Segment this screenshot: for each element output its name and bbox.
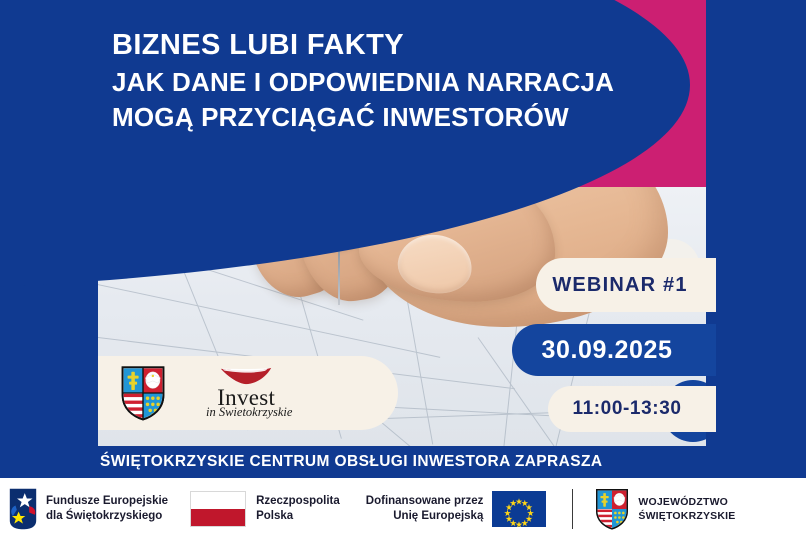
pushpin-needle: [338, 243, 340, 305]
badge-event-date: 30.09.2025: [512, 324, 716, 376]
badge-webinar-number: WEBINAR #1: [536, 258, 716, 312]
footer-eu: Dofinansowane przez Unię Europejską: [366, 491, 547, 527]
organizer-logo-pill: Invest in Swietokrzyskie: [98, 356, 398, 430]
eu-flag-icon: [492, 491, 546, 527]
footer-fundusze-europejskie: Fundusze Europejskie dla Świętokrzyskieg…: [0, 487, 168, 531]
footer-voivodeship: WOJEWÓDZTWO ŚWIĘTOKRZYSKIE: [595, 488, 735, 530]
eu-label: Dofinansowane przez Unię Europejską: [366, 494, 484, 524]
eu-funding-footer: Fundusze Europejskie dla Świętokrzyskieg…: [0, 478, 806, 540]
swietokrzyskie-coat-of-arms-icon: [120, 365, 166, 421]
eu-line-1: Dofinansowane przez: [366, 494, 484, 509]
organizer-strap-text: ŚWIĘTOKRZYSKIE CENTRUM OBSŁUGI INWESTORA…: [100, 453, 602, 471]
voivodeship-label: WOJEWÓDZTWO ŚWIĘTOKRZYSKIE: [638, 495, 735, 523]
invest-flag-swoosh-icon: [219, 367, 273, 385]
voivodeship-line-1: WOJEWÓDZTWO: [638, 495, 735, 509]
invest-subtitle: in Swietokrzyskie: [206, 406, 292, 419]
badge-event-time: 11:00-13:30: [548, 386, 716, 432]
poster-headline: BIZNES LUBI FAKTY JAK DANE I ODPOWIEDNIA…: [112, 28, 712, 133]
invest-logo: Invest in Swietokrzyskie: [206, 367, 286, 419]
fundusze-line-1: Fundusze Europejskie: [46, 494, 168, 509]
headline-line-3: MOGĄ PRZYCIĄGAĆ INWESTORÓW: [112, 102, 712, 133]
fundusze-line-2: dla Świętokrzyskiego: [46, 509, 168, 524]
poland-line-2: Polska: [256, 509, 340, 524]
poland-label: Rzeczpospolita Polska: [256, 494, 340, 524]
eu-line-2: Unię Europejską: [366, 509, 484, 524]
footer-poland: Rzeczpospolita Polska: [168, 491, 340, 527]
fundusze-label: Fundusze Europejskie dla Świętokrzyskieg…: [46, 494, 168, 524]
poland-flag-icon: [190, 491, 246, 527]
headline-line-1: BIZNES LUBI FAKTY: [112, 28, 712, 62]
footer-divider: [572, 489, 573, 529]
organizer-strap: ŚWIĘTOKRZYSKIE CENTRUM OBSŁUGI INWESTORA…: [0, 446, 806, 478]
fundusze-europejskie-logo-icon: [8, 487, 38, 531]
webinar-poster: BIZNES LUBI FAKTY JAK DANE I ODPOWIEDNIA…: [0, 0, 806, 540]
headline-line-2: JAK DANE I ODPOWIEDNIA NARRACJA: [112, 67, 712, 98]
poland-line-1: Rzeczpospolita: [256, 494, 340, 509]
voivodeship-line-2: ŚWIĘTOKRZYSKIE: [638, 509, 735, 523]
swietokrzyskie-coat-of-arms-footer-icon: [595, 488, 629, 530]
